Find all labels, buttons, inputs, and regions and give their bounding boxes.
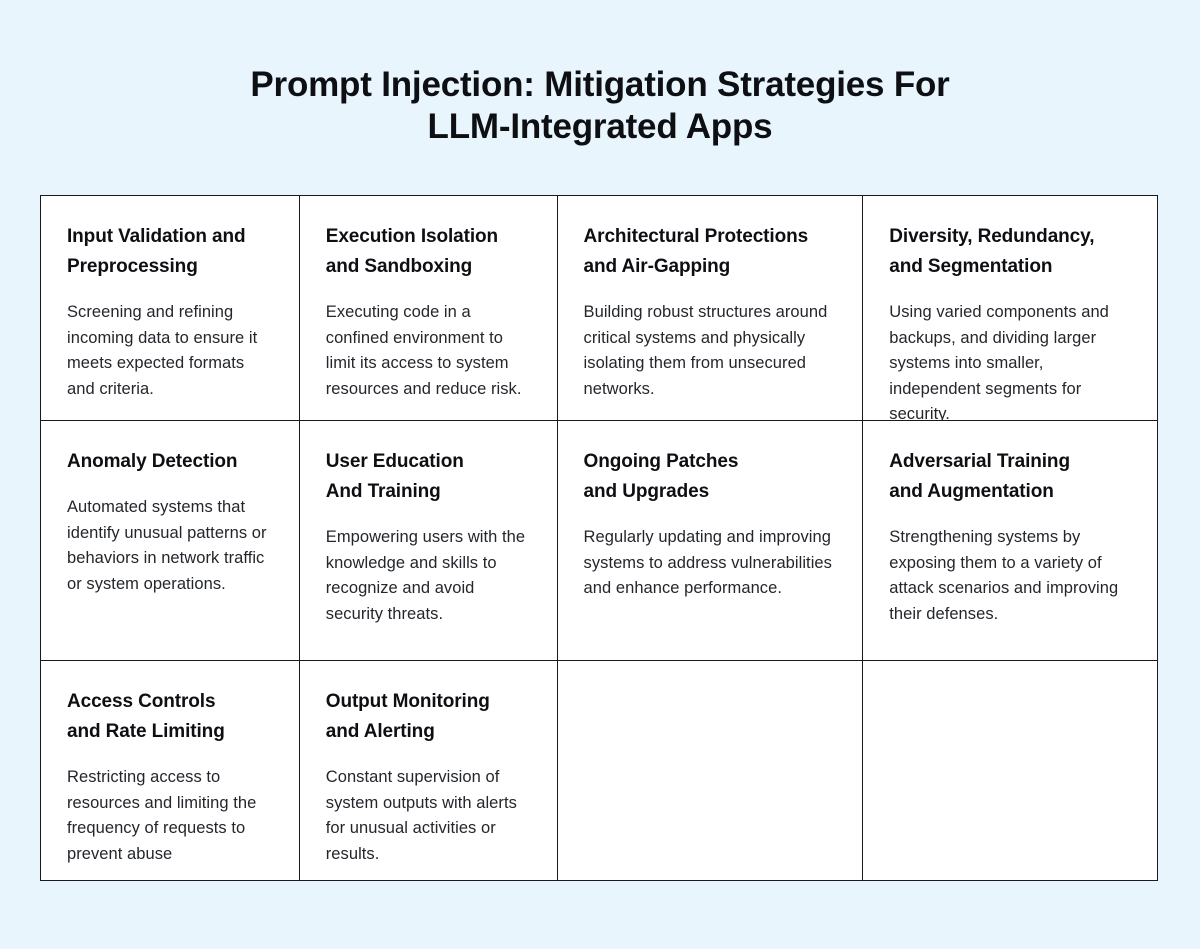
strategy-card-title: Ongoing Patches and Upgrades <box>584 447 839 507</box>
strategy-card-body: Building robust structures around critic… <box>584 300 839 402</box>
grid-row: Access Controls and Rate Limiting Restri… <box>41 661 1158 881</box>
strategy-card-body: Constant supervision of system outputs w… <box>326 765 533 867</box>
strategy-card-title: Adversarial Training and Augmentation <box>889 447 1133 507</box>
strategy-card-output-monitoring-and-alerting: Output Monitoring and Alerting Constant … <box>300 661 558 881</box>
strategy-card-body: Empowering users with the knowledge and … <box>326 525 533 627</box>
strategy-card-diversity-redundancy-and-segmentation: Diversity, Redundancy, and Segmentation … <box>863 196 1158 421</box>
strategies-grid: Input Validation and Preprocessing Scree… <box>40 195 1158 881</box>
strategy-card-title: Access Controls and Rate Limiting <box>67 687 275 747</box>
page-title: Prompt Injection: Mitigation Strategies … <box>0 64 1200 148</box>
strategy-card-empty <box>863 661 1158 881</box>
strategy-card-body: Restricting access to resources and limi… <box>67 765 275 867</box>
strategy-card-title: Architectural Protections and Air-Gappin… <box>584 222 839 282</box>
strategy-card-anomaly-detection: Anomaly Detection Automated systems that… <box>41 421 300 661</box>
page-title-line-2: LLM-Integrated Apps <box>0 106 1200 148</box>
strategy-card-execution-isolation-and-sandboxing: Execution Isolation and Sandboxing Execu… <box>300 196 558 421</box>
strategy-card-title: Anomaly Detection <box>67 447 275 477</box>
strategy-card-ongoing-patches-and-upgrades: Ongoing Patches and Upgrades Regularly u… <box>558 421 864 661</box>
infographic-poster: Prompt Injection: Mitigation Strategies … <box>0 0 1200 949</box>
strategy-card-title: Diversity, Redundancy, and Segmentation <box>889 222 1133 282</box>
strategy-card-architectural-protections-and-air-gapping: Architectural Protections and Air-Gappin… <box>558 196 864 421</box>
strategy-card-empty <box>558 661 864 881</box>
grid-row: Input Validation and Preprocessing Scree… <box>41 196 1158 421</box>
strategy-card-title: Output Monitoring and Alerting <box>326 687 533 747</box>
strategy-card-body: Strengthening systems by exposing them t… <box>889 525 1133 627</box>
strategy-card-title: Execution Isolation and Sandboxing <box>326 222 533 282</box>
strategy-card-adversarial-training-and-augmentation: Adversarial Training and Augmentation St… <box>863 421 1158 661</box>
strategy-card-body: Using varied components and backups, and… <box>889 300 1133 428</box>
strategy-card-body: Automated systems that identify unusual … <box>67 495 275 597</box>
grid-row: Anomaly Detection Automated systems that… <box>41 421 1158 661</box>
page-title-line-1: Prompt Injection: Mitigation Strategies … <box>0 64 1200 106</box>
strategy-card-user-education-and-training: User Education And Training Empowering u… <box>300 421 558 661</box>
strategy-card-body: Screening and refining incoming data to … <box>67 300 275 402</box>
strategy-card-title: Input Validation and Preprocessing <box>67 222 275 282</box>
strategy-card-access-controls-and-rate-limiting: Access Controls and Rate Limiting Restri… <box>41 661 300 881</box>
strategy-card-body: Executing code in a confined environment… <box>326 300 533 402</box>
strategy-card-body: Regularly updating and improving systems… <box>584 525 839 602</box>
strategy-card-title: User Education And Training <box>326 447 533 507</box>
strategy-card-input-validation-and-preprocessing: Input Validation and Preprocessing Scree… <box>41 196 300 421</box>
